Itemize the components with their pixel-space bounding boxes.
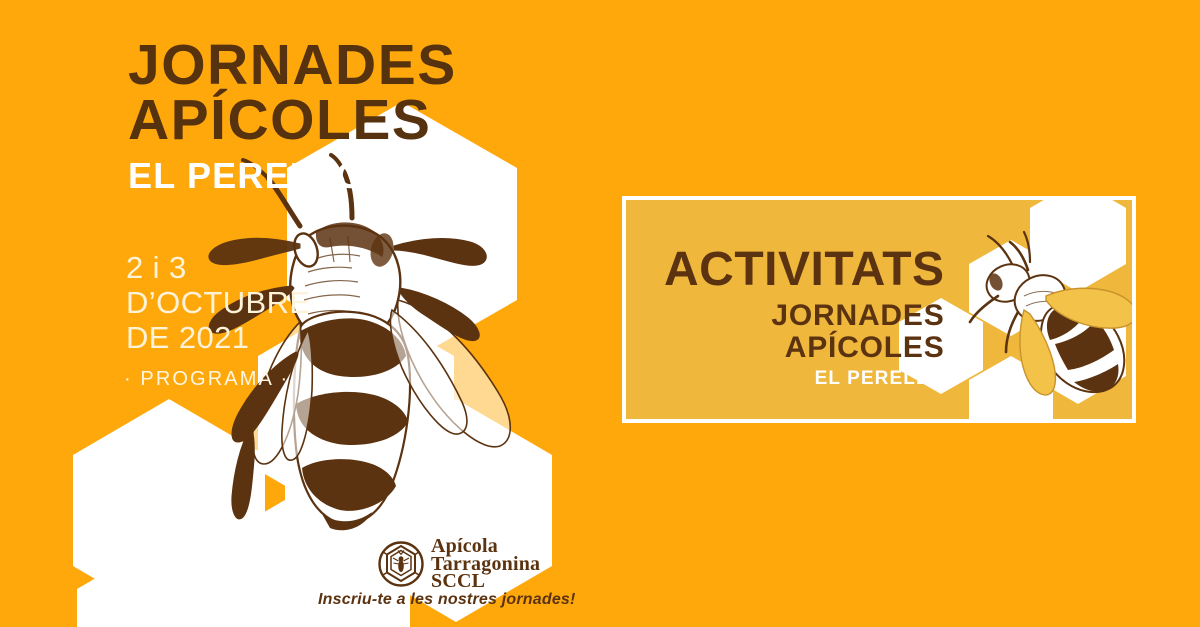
event-date-line1: 2 i 3 xyxy=(126,250,310,285)
poster-canvas: JORNADES APÍCOLES EL PERELLÓ 2 i 3 D’OCT… xyxy=(0,0,1200,627)
activitats-line4: EL PERELLÓ xyxy=(664,367,945,391)
event-date-line2: D’OCTUBRE xyxy=(126,285,310,320)
registration-tagline: Inscriu-te a les nostres jornades! xyxy=(318,591,576,609)
hero-title-line2: APÍCOLES xyxy=(128,93,457,148)
activitats-text-block: ACTIVITATS JORNADES APÍCOLES EL PERELLÓ xyxy=(664,246,945,391)
activitats-line3: APÍCOLES xyxy=(664,332,945,364)
activitats-heading: ACTIVITATS xyxy=(664,246,945,294)
left-hero-block: JORNADES APÍCOLES EL PERELLÓ 2 i 3 D’OCT… xyxy=(0,0,620,627)
event-date: 2 i 3 D’OCTUBRE DE 2021 xyxy=(126,250,310,355)
logo-line3: SCCL xyxy=(431,573,540,591)
logo-wordmark: Apícola Tarragonina SCCL xyxy=(431,538,540,591)
hero-subtitle: EL PERELLÓ xyxy=(128,153,457,199)
event-date-line3: DE 2021 xyxy=(126,320,310,355)
hero-title-line1: JORNADES xyxy=(128,38,457,93)
programa-label: · PROGRAMA · xyxy=(124,368,289,391)
hero-title: JORNADES APÍCOLES EL PERELLÓ xyxy=(128,38,457,199)
hexagon-bee-emblem-icon xyxy=(378,541,424,587)
activitats-line2: JORNADES xyxy=(664,300,945,332)
activitats-panel[interactable]: ACTIVITATS JORNADES APÍCOLES EL PERELLÓ xyxy=(622,196,1136,423)
apicola-tarragonina-logo: Apícola Tarragonina SCCL xyxy=(378,538,540,591)
